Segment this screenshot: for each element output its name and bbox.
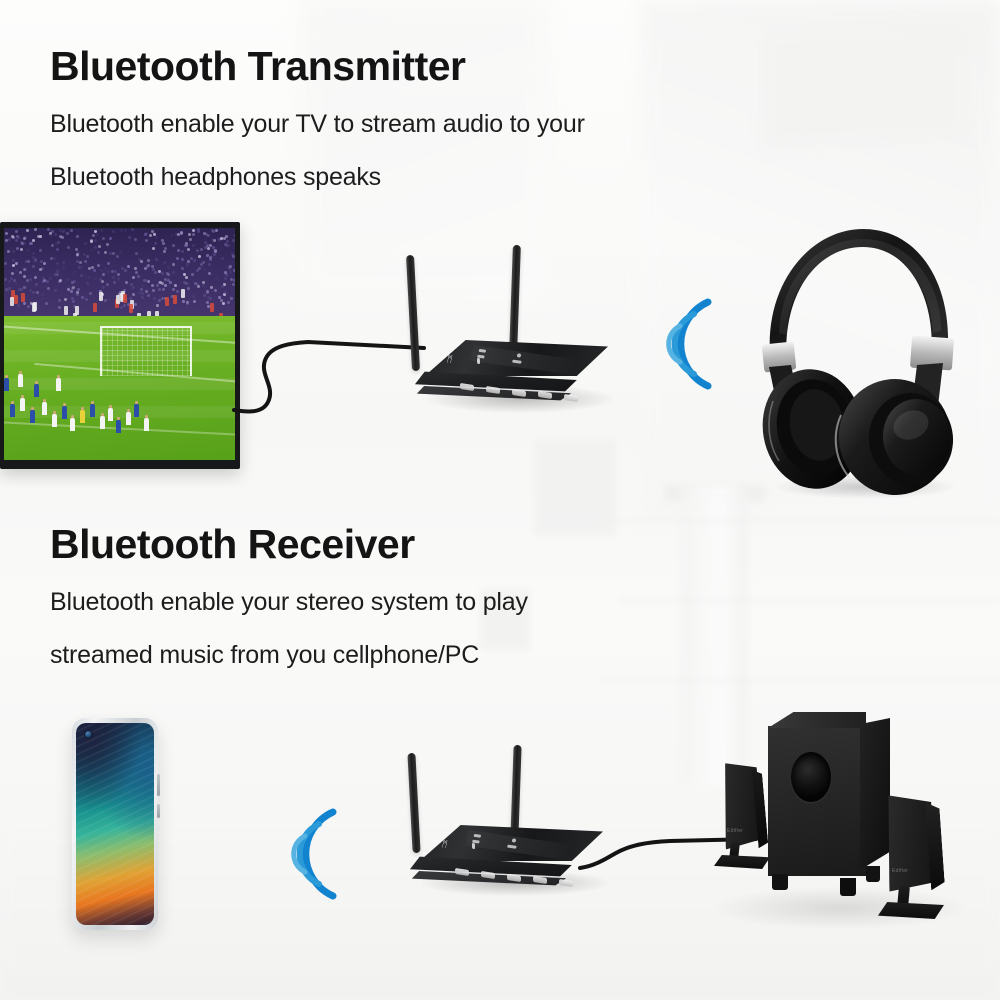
tv-screen: AVAYA PHILIPS MTN <box>4 228 235 460</box>
front-camera-icon <box>85 731 92 738</box>
led-power <box>511 838 516 842</box>
bass-port <box>791 752 831 802</box>
smartphone-screen <box>76 723 154 925</box>
receiver-text-block: Bluetooth Receiver Bluetooth enable your… <box>50 523 528 673</box>
button-next[interactable] <box>559 879 573 887</box>
brand-logo: Edifier <box>727 828 743 834</box>
volume-button[interactable] <box>157 774 160 796</box>
transmitter-description-line1: Bluetooth enable your TV to stream audio… <box>50 107 585 141</box>
background-band <box>600 520 1000 522</box>
adapter-body: ᛗ <box>413 340 608 406</box>
speaker-system: Edifier Edifier <box>700 690 980 940</box>
brand-logo: Edifier <box>892 868 908 874</box>
transmitter-description-line2: Bluetooth headphones speaks <box>50 160 585 194</box>
smartphone-device <box>72 718 158 930</box>
transmitter-text-block: Bluetooth Transmitter Bluetooth enable y… <box>50 45 585 195</box>
receiver-description-line2: streamed music from you cellphone/PC <box>50 638 528 672</box>
bluetooth-waves-transmitter <box>634 292 734 396</box>
bluetooth-waves-receiver <box>259 802 359 906</box>
receiver-adapter: ᛗ <box>400 745 605 895</box>
button-next[interactable] <box>564 394 578 402</box>
receiver-description-line1: Bluetooth enable your stereo system to p… <box>50 585 528 619</box>
transmitter-heading: Bluetooth Transmitter <box>50 45 585 88</box>
background-panel-right <box>760 19 970 150</box>
led-status <box>507 845 517 849</box>
led-power <box>516 353 521 357</box>
led-indicator <box>472 843 475 849</box>
adapter-body: ᛗ <box>408 825 603 891</box>
tv-device: AVAYA PHILIPS MTN <box>0 222 240 469</box>
background-band <box>600 680 1000 682</box>
background-band <box>620 600 1000 602</box>
transmitter-adapter: ᛗ <box>405 245 610 415</box>
receiver-heading: Bluetooth Receiver <box>50 523 528 566</box>
screen-sheen <box>76 723 154 925</box>
led-status <box>512 360 522 364</box>
power-button[interactable] <box>157 804 160 818</box>
headphones-device <box>735 215 985 500</box>
led-rx <box>478 349 486 353</box>
led-rx <box>473 834 481 838</box>
antenna-right <box>509 245 521 353</box>
infographic-canvas: Bluetooth Transmitter Bluetooth enable y… <box>0 0 1000 1000</box>
tv-scene-goal <box>100 326 192 376</box>
led-indicator <box>477 358 480 364</box>
